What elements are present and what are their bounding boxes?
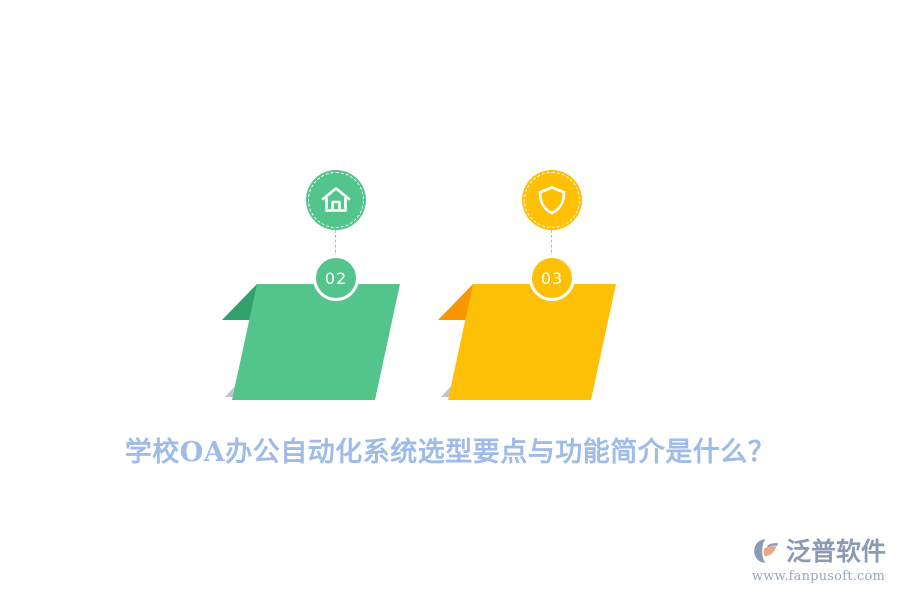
brand-logo: 泛普软件 www.fanpusoft.com bbox=[746, 534, 886, 590]
logo-brand-text: 泛普软件 bbox=[786, 539, 886, 564]
step-icon-badge-orange[interactable] bbox=[522, 170, 582, 230]
fanpu-logo-icon bbox=[751, 536, 781, 566]
infographic-canvas: 02 03 学校OA办公自动化系统选型要点与功能简介是什么？ bbox=[0, 0, 900, 600]
step-number-badge-02[interactable]: 02 bbox=[313, 255, 359, 301]
step-number-label-03: 03 bbox=[541, 269, 563, 288]
step-number-label-02: 02 bbox=[325, 269, 347, 288]
step-number-badge-03[interactable]: 03 bbox=[529, 255, 575, 301]
logo-url-text: www.fanpusoft.com bbox=[746, 569, 886, 584]
home-icon bbox=[319, 183, 353, 217]
step-card-02[interactable]: 02 bbox=[212, 160, 452, 410]
page-title: 学校OA办公自动化系统选型要点与功能简介是什么？ bbox=[0, 430, 900, 469]
logo-row: 泛普软件 bbox=[746, 534, 886, 568]
shield-icon bbox=[535, 183, 569, 217]
step-icon-badge-green[interactable] bbox=[306, 170, 366, 230]
step-card-03[interactable]: 03 bbox=[428, 160, 668, 410]
banner-body-green bbox=[232, 284, 400, 400]
banner-body-orange bbox=[448, 284, 616, 400]
